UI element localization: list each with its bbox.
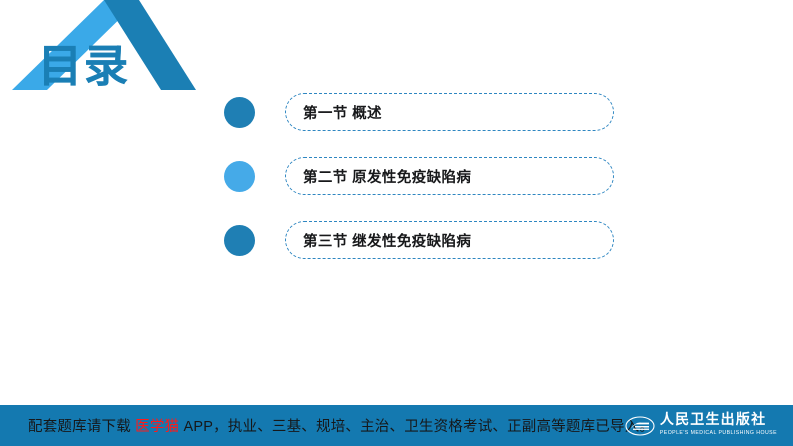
publisher-logo: 人民卫生出版社 PEOPLE'S MEDICAL PUBLISHING HOUS… (625, 411, 777, 441)
publisher-wordmark: 人民卫生出版社 PEOPLE'S MEDICAL PUBLISHING HOUS… (660, 414, 777, 436)
toc-box-2[interactable]: 第二节 原发性免疫缺陷病 (285, 157, 614, 195)
page-title: 目录 (38, 45, 130, 89)
footer-app-name: 医学猫 (135, 419, 179, 435)
title-block: 目录 (0, 0, 210, 100)
toc-item-label-3: 第三节 继发性免疫缺陷病 (286, 230, 471, 251)
slide-canvas: 目录 第一节 概述 第二节 原发性免疫缺陷病 第三节 继发性免疫缺陷病 配套题库… (0, 0, 793, 446)
publisher-name-cn: 人民卫生出版社 (660, 414, 777, 429)
toc-item-1[interactable]: 第一节 概述 (224, 88, 614, 136)
toc-item-3[interactable]: 第三节 继发性免疫缺陷病 (224, 216, 614, 264)
toc-bullet-3 (224, 225, 255, 256)
toc-item-label-2: 第二节 原发性免疫缺陷病 (286, 166, 471, 187)
footer-text-before: 配套题库请下载 (28, 419, 135, 435)
toc-item-label-1: 第一节 概述 (286, 102, 382, 123)
footer-text-after: APP，执业、三基、规培、主治、卫生资格考试、正副高等题库已导入。 (179, 419, 654, 435)
toc-bullet-1 (224, 97, 255, 128)
footer-banner: 配套题库请下载 医学猫 APP，执业、三基、规培、主治、卫生资格考试、正副高等题… (0, 405, 793, 446)
publisher-emblem-icon (625, 416, 655, 436)
toc-bullet-2 (224, 161, 255, 192)
publisher-name-en: PEOPLE'S MEDICAL PUBLISHING HOUSE (660, 430, 777, 437)
footer-promo-text: 配套题库请下载 医学猫 APP，执业、三基、规培、主治、卫生资格考试、正副高等题… (28, 415, 654, 436)
toc-box-3[interactable]: 第三节 继发性免疫缺陷病 (285, 221, 614, 259)
toc-list: 第一节 概述 第二节 原发性免疫缺陷病 第三节 继发性免疫缺陷病 (224, 88, 614, 280)
toc-item-2[interactable]: 第二节 原发性免疫缺陷病 (224, 152, 614, 200)
toc-box-1[interactable]: 第一节 概述 (285, 93, 614, 131)
